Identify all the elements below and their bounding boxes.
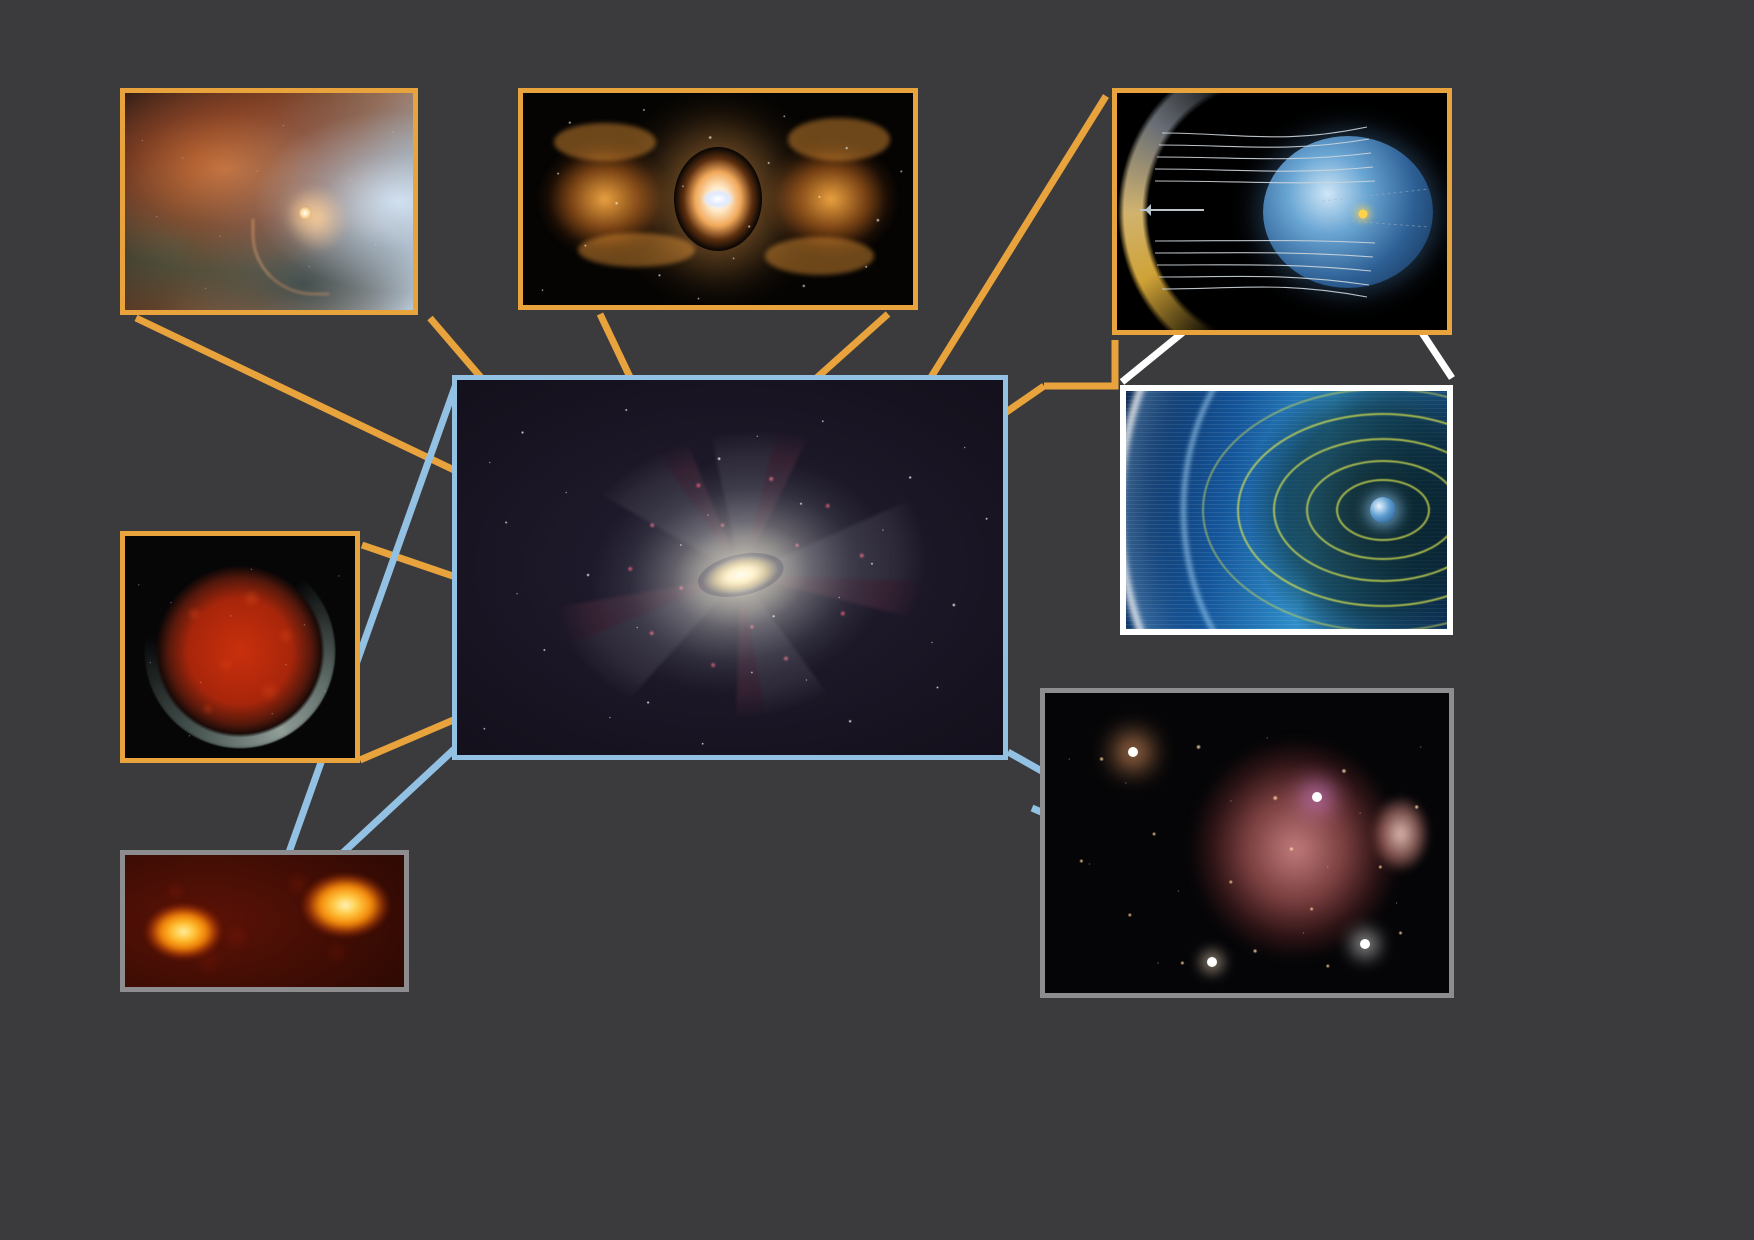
radio-lobe-left: [142, 901, 226, 962]
spiral-galaxy-image: [457, 380, 1003, 755]
galaxy-cluster-image: [1045, 693, 1449, 993]
magnetosphere-detail-panel[interactable]: [1120, 385, 1453, 635]
protoplanetary-disk-image: [125, 93, 413, 310]
earth-icon: [1370, 497, 1396, 523]
background-stars: [523, 93, 913, 305]
supernova-remnant-panel[interactable]: [120, 531, 360, 763]
radio-galaxy-image: [125, 855, 404, 987]
background-stars: [125, 93, 413, 310]
radio-lobe-right: [298, 871, 393, 940]
planet-marker-icon: [1358, 209, 1367, 218]
foreground-star: [1312, 792, 1322, 802]
connector-magnetosphere-frame-stub: [1044, 340, 1115, 386]
supernova-remnant-image: [125, 536, 355, 758]
galaxy-cluster-merger-panel[interactable]: [1040, 688, 1454, 998]
magnetosphere-schematic-panel[interactable]: [1112, 88, 1452, 335]
central-spiral-galaxy-panel[interactable]: [452, 375, 1008, 760]
protoplanetary-disk-panel[interactable]: [120, 88, 418, 315]
foreground-star: [1128, 747, 1138, 757]
background-stars: [125, 536, 355, 758]
figure-canvas: [0, 0, 1754, 1240]
magnetosphere-detail-image: [1126, 391, 1447, 629]
planetary-nebula-panel[interactable]: [518, 88, 918, 310]
solar-wind-field-lines: [1117, 93, 1447, 330]
planetary-nebula-image: [523, 93, 913, 305]
background-stars: [1045, 693, 1449, 993]
faint-stars: [457, 380, 1003, 755]
magnetosphere-schematic-image: [1117, 93, 1447, 330]
foreground-star: [1207, 957, 1217, 967]
solar-wind-arrow-icon: [1140, 209, 1204, 211]
radio-galaxy-lobes-panel[interactable]: [120, 850, 409, 992]
